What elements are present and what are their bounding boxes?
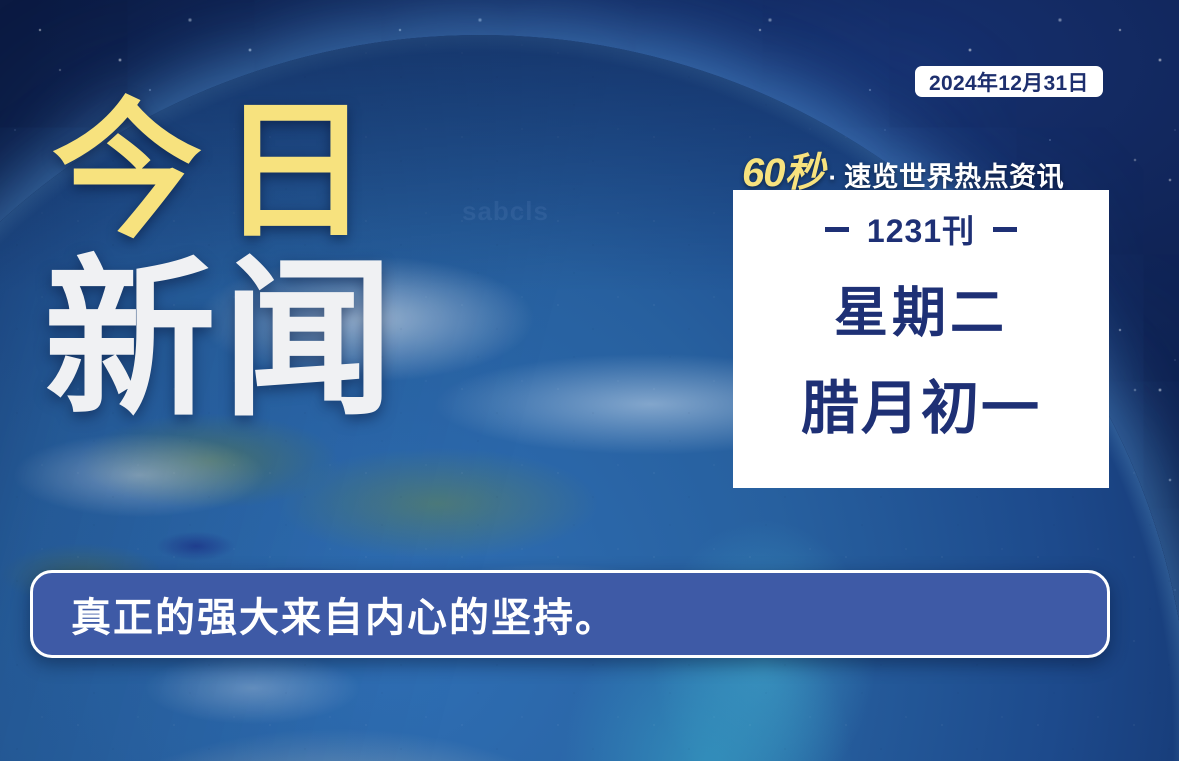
title-line-today: 今日: [52, 96, 482, 246]
page-title: 今日 新闻: [52, 96, 482, 426]
tagline-separator-dot: ·: [829, 162, 838, 193]
issue-dash-right-icon: [993, 227, 1017, 232]
issue-number: 1231刊: [867, 206, 975, 252]
quote-bar: 真正的强大来自内心的坚持。: [30, 570, 1110, 658]
quote-text: 真正的强大来自内心的坚持。: [71, 585, 617, 643]
issue-number-row: 1231刊: [825, 206, 1017, 252]
title-line-news: 新闻: [44, 254, 482, 426]
lunar-date-label: 腊月初一: [801, 361, 1041, 445]
date-badge: 2024年12月31日: [915, 66, 1103, 97]
news-poster: sabcls 2024年12月31日 60秒 · 速览世界热点资讯 1231刊 …: [0, 0, 1179, 761]
tagline-text: 速览世界热点资讯: [844, 155, 1064, 194]
weekday-label: 星期二: [834, 268, 1008, 347]
info-card: 1231刊 星期二 腊月初一: [733, 190, 1109, 488]
issue-dash-left-icon: [825, 227, 849, 232]
